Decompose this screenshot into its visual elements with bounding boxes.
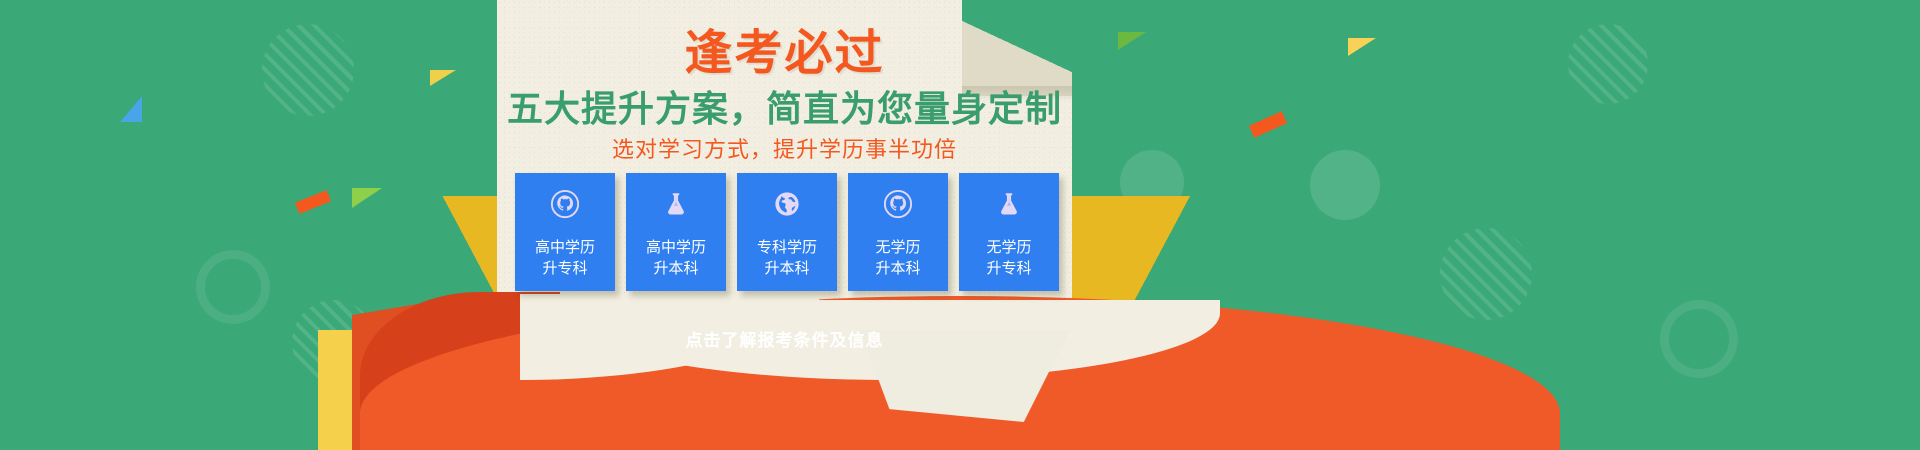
flask-icon [994, 189, 1024, 219]
decorative-striped-circle [1440, 228, 1532, 320]
flask-icon [661, 189, 691, 219]
decorative-triangle-green [1118, 32, 1146, 50]
program-card[interactable]: 专科学历 升本科 [737, 173, 837, 291]
program-card-line1: 无学历 [986, 239, 1031, 256]
program-card[interactable]: 无学历 升专科 [959, 173, 1059, 291]
promo-banner: 逢考必过 五大提升方案，简直为您量身定制 选对学习方式，提升学历事半功倍 高中学… [0, 0, 1920, 450]
program-card[interactable]: 高中学历 升本科 [626, 173, 726, 291]
program-card-line1: 专科学历 [757, 239, 817, 256]
program-card-line2: 升本科 [653, 260, 698, 277]
decorative-dot [1310, 150, 1380, 220]
decorative-triangle-yellow [430, 70, 456, 86]
subheadline: 五大提升方案，简直为您量身定制 [497, 88, 1072, 130]
page-title: 逢考必过 [497, 28, 1072, 80]
decorative-triangle-green [352, 188, 382, 208]
program-card-line2: 升专科 [986, 260, 1031, 277]
program-card-line2: 升专科 [542, 260, 587, 277]
decorative-triangle-yellow [1348, 38, 1376, 56]
program-card-line1: 高中学历 [646, 239, 706, 256]
program-card[interactable]: 高中学历 升专科 [515, 173, 615, 291]
program-card-line1: 高中学历 [535, 239, 595, 256]
program-card-line2: 升本科 [875, 260, 920, 277]
github-cat-icon [550, 189, 580, 219]
tagline: 选对学习方式，提升学历事半功倍 [497, 136, 1072, 164]
program-card-line2: 升本科 [764, 260, 809, 277]
decorative-striped-circle [262, 24, 354, 116]
decorative-ring [1660, 300, 1738, 378]
globe-icon [772, 189, 802, 219]
program-card-label: 专科学历 升本科 [757, 237, 817, 279]
program-card-label: 无学历 升本科 [875, 237, 920, 279]
github-cat-icon [883, 189, 913, 219]
program-card-label: 高中学历 升本科 [646, 237, 706, 279]
program-card-list: 高中学历 升专科 高中学历 升本科 [507, 173, 1067, 291]
decorative-ring [196, 250, 270, 324]
program-card-label: 高中学历 升专科 [535, 237, 595, 279]
program-card[interactable]: 无学历 升本科 [848, 173, 948, 291]
cta-text[interactable]: 点击了解报考条件及信息 [497, 326, 1072, 351]
decorative-triangle-blue [120, 96, 142, 122]
decorative-striped-circle [1568, 24, 1648, 104]
program-card-label: 无学历 升专科 [986, 237, 1031, 279]
banner-content: 逢考必过 五大提升方案，简直为您量身定制 选对学习方式，提升学历事半功倍 高中学… [497, 0, 1072, 450]
program-card-line1: 无学历 [875, 239, 920, 256]
